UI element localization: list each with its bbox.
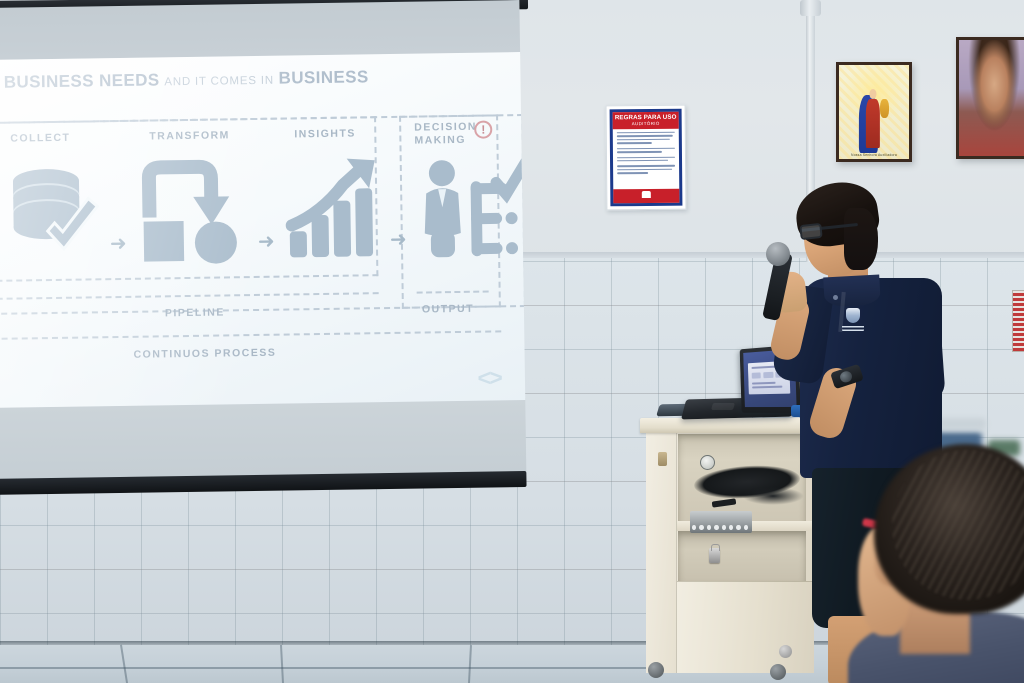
group-label-output: OUTPUT	[422, 303, 474, 316]
projected-slide: S IN BUSINESS NEEDS AND IT COMES IN BUSI…	[0, 52, 525, 408]
poster-logo-icon	[642, 191, 651, 198]
shirt-logo-text	[842, 324, 864, 331]
dashed-line-continuous	[0, 330, 501, 340]
glasses-lens	[799, 223, 822, 240]
floor-seam	[0, 667, 660, 669]
framed-painting-jesus	[956, 37, 1024, 159]
stage-label-insights: INSIGHTS	[294, 127, 356, 140]
transform-shapes-icon	[137, 154, 249, 266]
presenter-hair-back	[844, 208, 878, 270]
database-check-icon	[3, 158, 111, 266]
presentation-scene: S IN BUSINESS NEEDS AND IT COMES IN BUSI…	[0, 0, 1024, 683]
arrow-transform-to-insights: ➜	[258, 232, 275, 252]
laptop-trackpad[interactable]	[711, 403, 735, 410]
mixer-knobs	[692, 524, 748, 531]
shield-crest-icon	[846, 308, 860, 323]
code-bracket-watermark: <>	[477, 366, 501, 392]
footer-label-continuous-process: CONTINUOS PROCESS	[133, 347, 276, 361]
screen-bottom-band	[0, 398, 526, 480]
slide-title-bold-1: BUSINESS NEEDS	[4, 70, 160, 91]
poster-subheading: AUDITÓRIO	[613, 121, 679, 127]
arrow-collect-to-transform: ➜	[110, 234, 127, 254]
poster-regras-para-uso: REGRAS PARA USO AUDITÓRIO	[606, 105, 687, 211]
stage-label-transform: TRANSFORM	[149, 129, 230, 142]
stage-label-decision-line1: DECISION	[414, 121, 477, 135]
poster-footer	[613, 189, 679, 204]
cabinet-side-panel	[646, 430, 677, 673]
floor-seam	[468, 645, 472, 683]
cabinet-caster-wheel	[648, 662, 664, 678]
stage-label-collect: COLLECT	[10, 132, 70, 145]
wall-notice-sign	[1012, 290, 1024, 352]
arrow-insights-to-decision: ➜	[390, 230, 407, 250]
framed-painting-madonna: Nossa Senhora Auxiliadora	[836, 62, 912, 162]
presenter-shirt-button	[833, 295, 838, 300]
wall-conduit-elbow	[800, 0, 821, 16]
presenter-shirt-logo	[842, 308, 864, 332]
businessman-checklist-icon	[410, 154, 524, 266]
slide-title: S IN BUSINESS NEEDS AND IT COMES IN BUSI…	[0, 67, 369, 93]
slide-title-small: AND IT COMES IN	[164, 75, 274, 89]
poster-header: REGRAS PARA USO AUDITÓRIO	[613, 112, 679, 130]
audience-member-foreground	[852, 444, 1024, 683]
group-label-pipeline: PIPELINE	[165, 306, 225, 319]
projector-screen: S IN BUSINESS NEEDS AND IT COMES IN BUSI…	[0, 0, 527, 498]
stage-label-decision-line2: MAKING	[414, 134, 466, 147]
shelf-clock	[700, 455, 715, 470]
poster-body	[613, 129, 680, 190]
painting-caption-madonna: Nossa Senhora Auxiliadora	[839, 153, 909, 157]
slide-title-bold-2: BUSINESS	[278, 67, 368, 87]
floor-seam	[280, 645, 284, 683]
bar-chart-trend-icon	[285, 152, 387, 263]
cabinet-lock-icon[interactable]	[709, 548, 720, 563]
cabinet-handle[interactable]	[658, 452, 667, 466]
floor-seam	[120, 645, 128, 683]
